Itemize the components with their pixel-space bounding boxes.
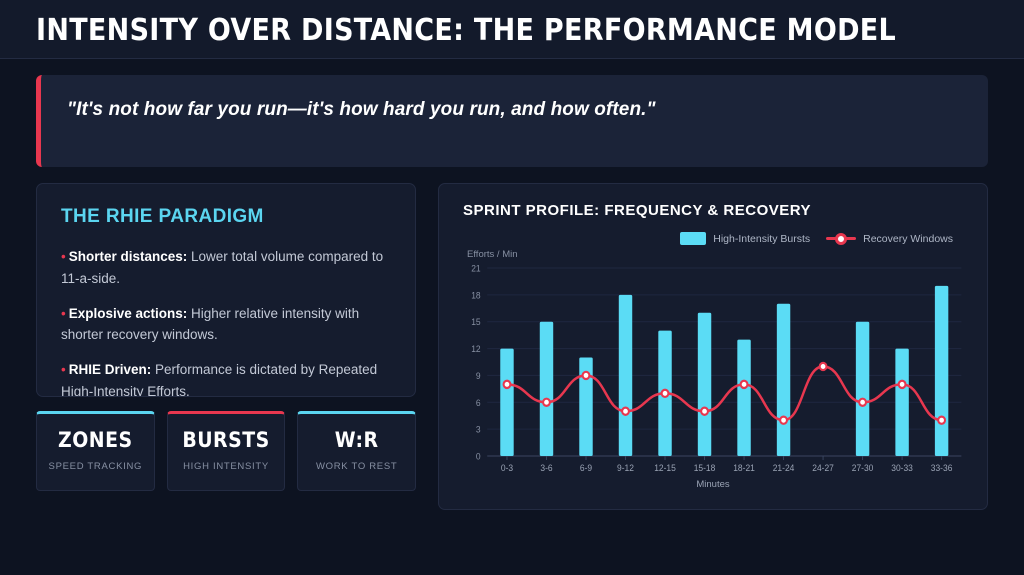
chart-line-marker — [504, 381, 511, 388]
chart-bar — [737, 340, 750, 456]
chart-bar — [856, 322, 869, 456]
slide-header: Intensity Over Distance: The Performance… — [0, 0, 1024, 59]
chart-svg: 0369121518210-33-66-99-1212-1515-1818-21… — [459, 262, 967, 478]
x-axis-tick-label: 21-24 — [773, 463, 795, 473]
chart-panel: Sprint Profile: Frequency & Recovery Hig… — [438, 183, 988, 510]
x-axis-tick-label: 30-33 — [891, 463, 913, 473]
x-axis-tick-label: 0-3 — [501, 463, 513, 473]
chart-bar — [895, 348, 908, 455]
bullet-item: •Explosive actions: Higher relative inte… — [61, 303, 391, 347]
chart-line-marker — [662, 390, 669, 397]
chart-line-marker — [938, 416, 945, 423]
y-axis-tick-label: 12 — [471, 344, 481, 354]
stat-subtitle: Speed Tracking — [43, 461, 148, 472]
bullet-dot-icon: • — [61, 306, 66, 321]
chart-line-marker — [583, 372, 590, 379]
y-axis-tick-label: 6 — [476, 397, 481, 407]
legend-item-bursts[interactable]: High-Intensity Bursts — [680, 232, 810, 245]
stat-card-bursts: BURSTS High Intensity — [167, 411, 286, 491]
y-axis-tick-label: 15 — [471, 317, 481, 327]
quote-card: "It's not how far you run—it's how hard … — [36, 75, 988, 167]
chart-bar — [500, 348, 513, 455]
content-row: The RHIE Paradigm •Shorter distances: Lo… — [0, 167, 1024, 510]
x-axis-tick-label: 18-21 — [733, 463, 755, 473]
left-column: The RHIE Paradigm •Shorter distances: Lo… — [36, 183, 416, 491]
legend-label: Recovery Windows — [863, 233, 953, 245]
x-axis-tick-label: 6-9 — [580, 463, 592, 473]
chart-bar — [540, 322, 553, 456]
x-axis-tick-label: 27-30 — [852, 463, 874, 473]
chart-line — [507, 366, 942, 420]
y-axis-tick-label: 0 — [476, 451, 481, 461]
bullet-item: •RHIE Driven: Performance is dictated by… — [61, 359, 391, 397]
quote-section: "It's not how far you run—it's how hard … — [0, 59, 1024, 167]
legend-swatch-icon — [680, 232, 706, 245]
bullet-dot-icon: • — [61, 362, 66, 377]
slide-root: Intensity Over Distance: The Performance… — [0, 0, 1024, 575]
stat-title: ZONES — [43, 428, 148, 452]
bullet-term: RHIE Driven: — [69, 362, 152, 377]
chart-bar — [777, 304, 790, 456]
chart-legend: High-Intensity Bursts Recovery Windows — [459, 231, 953, 247]
legend-item-recovery[interactable]: Recovery Windows — [826, 233, 953, 245]
chart-line-marker — [701, 408, 708, 415]
legend-label: High-Intensity Bursts — [713, 233, 810, 245]
chart-line-marker — [899, 381, 906, 388]
x-axis-tick-label: 33-36 — [931, 463, 953, 473]
right-column: Sprint Profile: Frequency & Recovery Hig… — [438, 183, 988, 510]
bullet-item: •Shorter distances: Lower total volume c… — [61, 246, 391, 290]
chart-bar — [698, 313, 711, 456]
quote-text: "It's not how far you run—it's how hard … — [67, 99, 962, 121]
x-axis-tick-label: 3-6 — [540, 463, 552, 473]
chart-line-marker — [780, 416, 787, 423]
y-axis-tick-label: 18 — [471, 290, 481, 300]
x-axis-tick-label: 15-18 — [694, 463, 716, 473]
stat-title: W:R — [304, 428, 409, 452]
stat-subtitle: High Intensity — [174, 461, 279, 472]
chart-line-marker — [741, 381, 748, 388]
x-axis-title: Minutes — [459, 479, 967, 490]
legend-line-marker-icon — [826, 237, 856, 240]
stat-card-zones: ZONES Speed Tracking — [36, 411, 155, 491]
y-axis-tick-label: 9 — [476, 371, 481, 381]
rhie-panel: The RHIE Paradigm •Shorter distances: Lo… — [36, 183, 416, 397]
x-axis-tick-label: 9-12 — [617, 463, 634, 473]
rhie-heading: The RHIE Paradigm — [61, 206, 391, 228]
stat-subtitle: Work to Rest — [304, 461, 409, 472]
chart-line-marker — [622, 408, 629, 415]
chart-plot-area: 0369121518210-33-66-99-1212-1515-1818-21… — [459, 262, 967, 478]
chart-line-marker — [859, 399, 866, 406]
chart-bar — [619, 295, 632, 456]
page-title: Intensity Over Distance: The Performance… — [36, 14, 936, 48]
chart-line-marker — [543, 399, 550, 406]
bullet-term: Explosive actions: — [69, 306, 188, 321]
bullet-term: Shorter distances: — [69, 249, 188, 264]
y-axis-title: Efforts / Min — [467, 249, 967, 260]
stat-card-work-rest: W:R Work to Rest — [297, 411, 416, 491]
stat-card-group: ZONES Speed Tracking BURSTS High Intensi… — [36, 411, 416, 491]
bullet-dot-icon: • — [61, 249, 66, 264]
y-axis-tick-label: 3 — [476, 424, 481, 434]
stat-title: BURSTS — [174, 428, 279, 452]
chart-line-marker — [820, 363, 827, 370]
x-axis-tick-label: 24-27 — [812, 463, 834, 473]
y-axis-tick-label: 21 — [471, 263, 481, 273]
chart-title: Sprint Profile: Frequency & Recovery — [463, 202, 967, 219]
x-axis-tick-label: 12-15 — [654, 463, 676, 473]
chart-bar — [935, 286, 948, 456]
